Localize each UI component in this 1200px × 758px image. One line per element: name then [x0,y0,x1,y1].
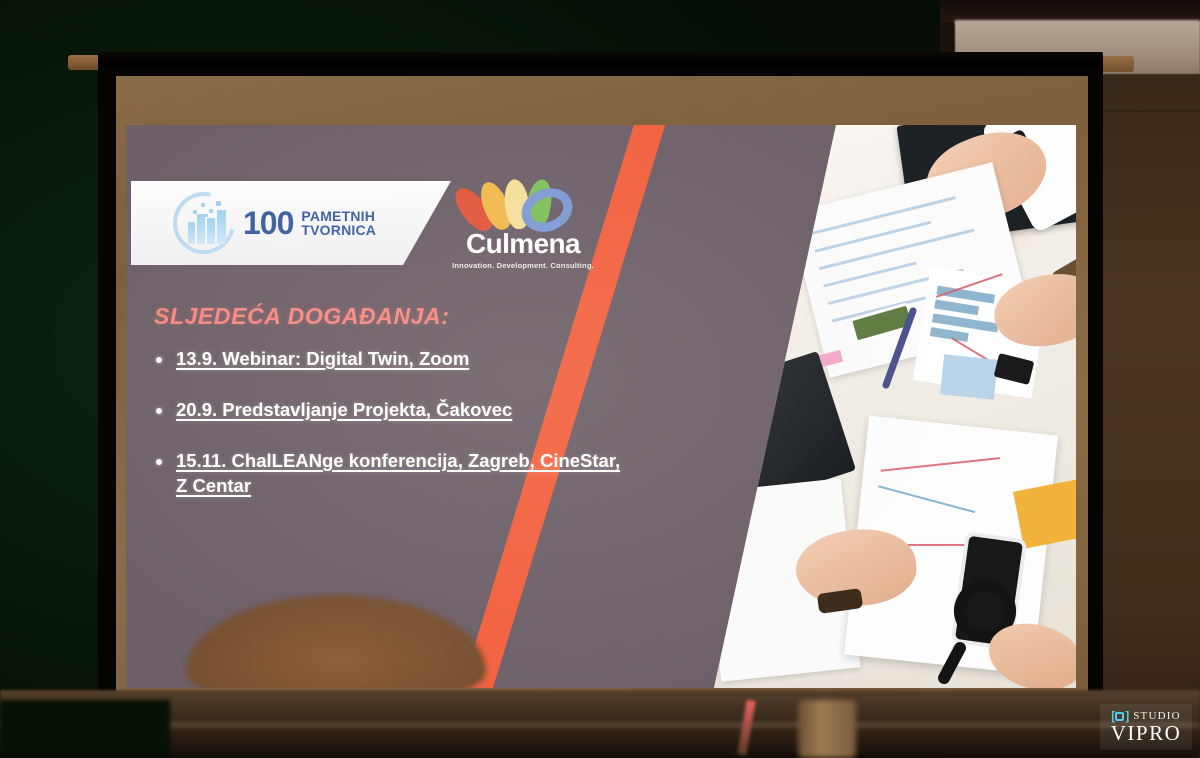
photo-desk-surface [606,125,1076,688]
event-link-1[interactable]: 13.9. Webinar: Digital Twin, Zoom [176,347,469,372]
audience-head-silhouette [186,595,486,688]
smart-factories-wordmark: PAMETNIH TVORNICA [301,209,376,238]
culmena-petals-icon [475,177,571,229]
bullet-dot-icon [156,459,162,465]
list-item: 15.11. ChalLEANge konferencija, Zagreb, … [156,449,626,499]
event-link-2[interactable]: 20.9. Predstavljanje Projekta, Čakovec [176,398,512,423]
culmena-wordmark: Culmena [466,230,580,258]
foreground-desk-edge [0,722,1200,728]
culmena-tagline: Innovation. Development. Consulting. [452,261,594,270]
slide-heading: SLJEDEĆA DOGAĐANJA: [154,303,450,330]
events-list: 13.9. Webinar: Digital Twin, Zoom 20.9. … [156,347,626,525]
bullet-dot-icon [156,357,162,363]
watermark-line2: VIPRO [1111,723,1182,744]
smart-factories-line2: TVORNICA [301,223,376,237]
studio-watermark: [] STUDIO VIPRO [1100,704,1192,750]
slide-photo [606,125,1076,688]
bullet-dot-icon [156,408,162,414]
wall-seam-line [1095,110,1200,112]
list-item: 13.9. Webinar: Digital Twin, Zoom [156,347,626,372]
photo-blue-sticky [940,354,998,399]
event-link-3[interactable]: 15.11. ChalLEANge konferencija, Zagreb, … [176,449,626,499]
smart-factories-logo-banner: 100 PAMETNIH TVORNICA [131,181,451,265]
factory-circle-icon [173,192,235,254]
smart-factories-line1: PAMETNIH [301,209,376,223]
projected-slide: 100 PAMETNIH TVORNICA Culmena Innovation… [126,125,1076,688]
wall-top-frame [940,0,1200,22]
screen-roller-knob-right [1098,56,1134,72]
list-item: 20.9. Predstavljanje Projekta, Čakovec [156,398,626,423]
smart-factories-number: 100 [243,207,293,239]
photo-yellow-note [1013,479,1076,549]
culmena-logo: Culmena Innovation. Development. Consult… [448,177,598,281]
foreground-object-blurred [798,700,856,758]
foreground-left-shadow [0,700,170,758]
